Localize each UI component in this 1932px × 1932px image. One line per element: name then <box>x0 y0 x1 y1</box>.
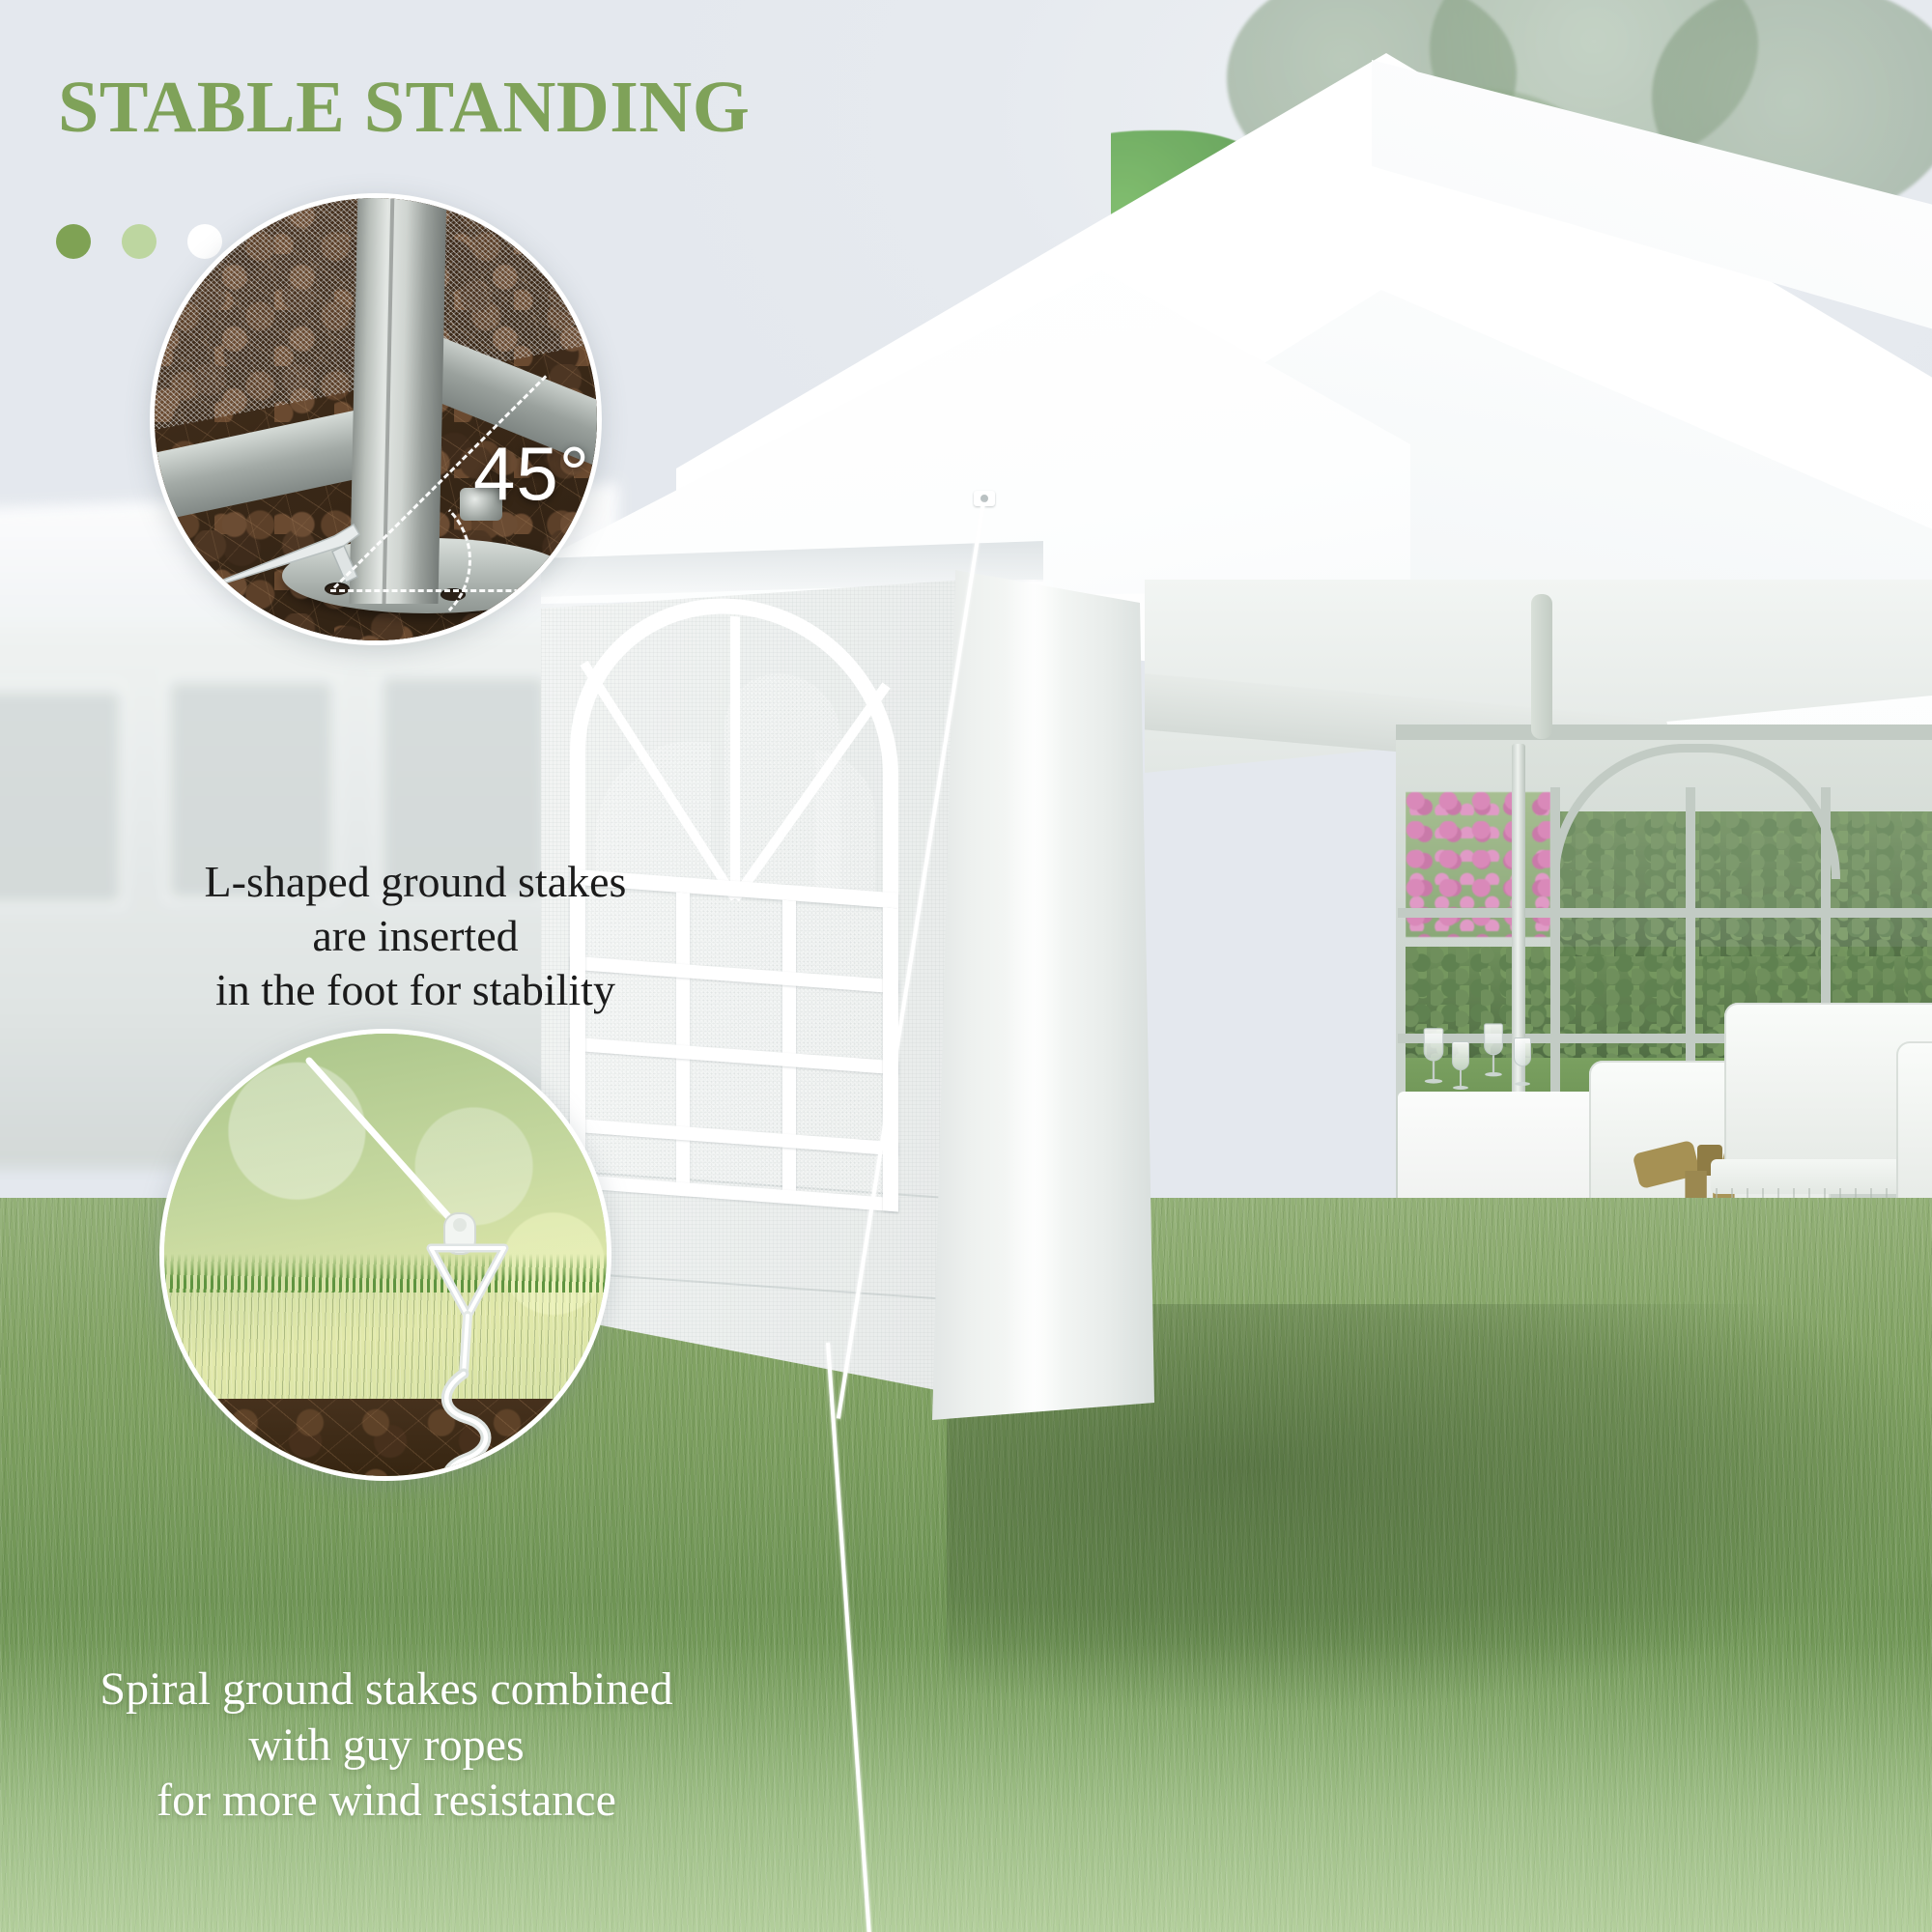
caption-line: in the foot for stability <box>106 963 724 1017</box>
inset-spiral-stake-closeup <box>159 1029 611 1481</box>
wine-glass <box>1424 1028 1444 1086</box>
inset-ground-stake-closeup: 45° <box>150 193 602 645</box>
l-shaped-stake-icon <box>155 198 602 645</box>
interior-support-pole <box>1512 744 1525 1150</box>
page-title: STABLE STANDING <box>58 66 750 150</box>
interior-window-header <box>1396 724 1932 740</box>
caption-spiral-stakes: Spiral ground stakes combined with guy r… <box>39 1662 734 1829</box>
roof-strap <box>1531 594 1552 739</box>
window-mullion <box>782 900 796 1201</box>
angle-label: 45° <box>473 430 590 518</box>
caption-l-shaped-stakes: L-shaped ground stakes are inserted in t… <box>106 855 724 1017</box>
caption-line: L-shaped ground stakes <box>106 855 724 909</box>
caption-line: with guy ropes <box>39 1718 734 1774</box>
caption-line: Spiral ground stakes combined <box>39 1662 734 1718</box>
tent-post-highlight <box>1005 580 1063 1410</box>
caption-line: are inserted <box>106 909 724 963</box>
dot-dark-green-icon <box>56 224 91 259</box>
spiral-stake-icon <box>164 1034 611 1481</box>
wine-glass <box>1514 1037 1531 1088</box>
wine-glass <box>1484 1023 1503 1078</box>
infographic-canvas: STABLE STANDING 45° L-shaped ground stak… <box>0 0 1932 1932</box>
caption-line: for more wind resistance <box>39 1773 734 1829</box>
dot-light-green-icon <box>122 224 156 259</box>
interior-window-rail <box>1398 908 1932 918</box>
wine-glass <box>1452 1041 1469 1092</box>
arch-rib <box>730 616 740 890</box>
